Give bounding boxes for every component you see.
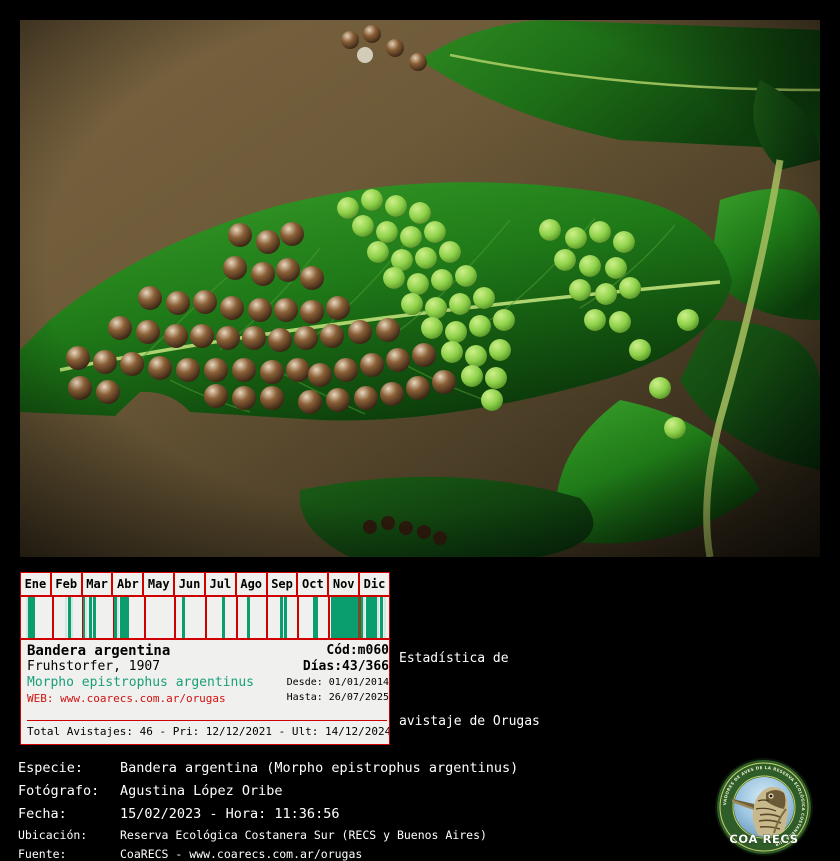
chart-gridline [236,597,238,638]
species-author-year: Fruhstorfer, 1907 [27,659,275,675]
range-desde: Desde: 01/01/2014 [277,675,389,690]
meta-row-especie: Especie: Bandera argentina (Morpho epist… [18,757,708,780]
chart-caption-line1: Estadística de [399,648,540,669]
chart-day-bar [126,597,129,638]
meta-value-especie: Bandera argentina (Morpho epistrophus ar… [120,757,708,780]
chart-day-bar [284,597,287,638]
chart-gridline [144,597,146,638]
chart-caption: Estadística de avistaje de Orugas [399,606,540,774]
month-label-jun: Jun [175,573,206,595]
meta-label-ubicacion: Ubicación: [18,826,120,845]
month-label-ene: Ene [21,573,52,595]
screenshot-root: Ene Feb Mar Abr May Jun Jul Ago Sep Oct … [0,0,840,861]
chart-gridline [297,597,299,638]
chart-day-bar [247,597,250,638]
chart-day-bar [222,597,225,638]
chart-gridline [174,597,176,638]
chart-day-bar [117,597,119,638]
meta-row-ubicacion: Ubicación: Reserva Ecológica Costanera S… [18,826,708,845]
month-label-nov: Nov [329,573,360,595]
chart-gridline [205,597,207,638]
chart-day-bar [32,597,35,638]
meta-value-fotografo: Agustina López Oribe [120,780,708,803]
species-info-block: Bandera argentina Fruhstorfer, 1907 Morp… [21,640,389,742]
species-code: Cód:m060 [277,643,389,659]
meta-label-fotografo: Fotógrafo: [18,780,120,803]
calendar-sightings-chart [21,597,389,640]
month-label-sep: Sep [268,573,299,595]
meta-label-especie: Especie: [18,757,120,780]
chart-gridline [266,597,268,638]
meta-row-fecha: Fecha: 15/02/2023 - Hora: 11:36:56 [18,803,708,826]
chart-day-bar [93,597,96,638]
meta-row-fuente: Fuente: CoaRECS - www.coarecs.com.ar/oru… [18,845,708,861]
meta-value-fuente[interactable]: CoaRECS - www.coarecs.com.ar/orugas [120,845,708,861]
species-photo [20,20,820,557]
chart-gridline [328,597,330,638]
meta-label-fuente: Fuente: [18,845,120,861]
logo-center-text: COA RECS [729,832,798,846]
chart-day-bar [380,597,383,638]
meta-value-ubicacion: Reserva Ecológica Costanera Sur (RECS y … [120,826,708,845]
month-label-dic: Dic [360,573,389,595]
photo-metadata: Especie: Bandera argentina (Morpho epist… [18,757,708,861]
species-info-right: Cód:m060 Días:43/366 Desde: 01/01/2014 H… [277,643,389,705]
month-label-ago: Ago [237,573,268,595]
chart-day-bar [384,597,386,638]
month-label-abr: Abr [113,573,144,595]
chart-day-bar [65,597,67,638]
chart-day-bar [280,597,283,638]
chart-day-bar [377,597,379,638]
chart-caption-line2: avistaje de Orugas [399,711,540,732]
species-info-left: Bandera argentina Fruhstorfer, 1907 Morp… [27,643,275,706]
chart-day-bar [315,597,318,638]
meta-value-fecha: 15/02/2023 - Hora: 11:36:56 [120,803,708,826]
month-label-oct: Oct [298,573,329,595]
chart-day-bar [71,597,73,638]
chart-day-bar [182,597,185,638]
species-web-link[interactable]: WEB: www.coarecs.com.ar/orugas [27,691,275,706]
month-label-jul: Jul [206,573,237,595]
chart-gridline [52,597,54,638]
chart-day-bar [85,597,87,638]
photo-illustration [20,20,820,557]
sightings-stats-panel: Ene Feb Mar Abr May Jun Jul Ago Sep Oct … [20,572,390,745]
month-label-feb: Feb [52,573,83,595]
coa-recs-logo[interactable]: CLUB DE OBSERVADORES DE AVES DE LA RESER… [714,757,814,857]
meta-row-fotografo: Fotógrafo: Agustina López Oribe [18,780,708,803]
meta-label-fecha: Fecha: [18,803,120,826]
species-days: Días:43/366 [277,659,389,675]
calendar-months-header: Ene Feb Mar Abr May Jun Jul Ago Sep Oct … [21,573,389,597]
coa-recs-logo-icon: CLUB DE OBSERVADORES DE AVES DE LA RESER… [714,757,814,857]
species-common-name: Bandera argentina [27,643,275,659]
chart-day-bar [89,597,92,638]
total-sightings-line: Total Avistajes: 46 - Pri: 12/12/2021 - … [27,720,387,738]
range-hasta: Hasta: 26/07/2025 [277,690,389,705]
month-label-may: May [144,573,175,595]
chart-day-bar [363,597,365,638]
month-label-mar: Mar [83,573,114,595]
species-scientific-name: Morpho epistrophus argentinus [27,675,275,691]
